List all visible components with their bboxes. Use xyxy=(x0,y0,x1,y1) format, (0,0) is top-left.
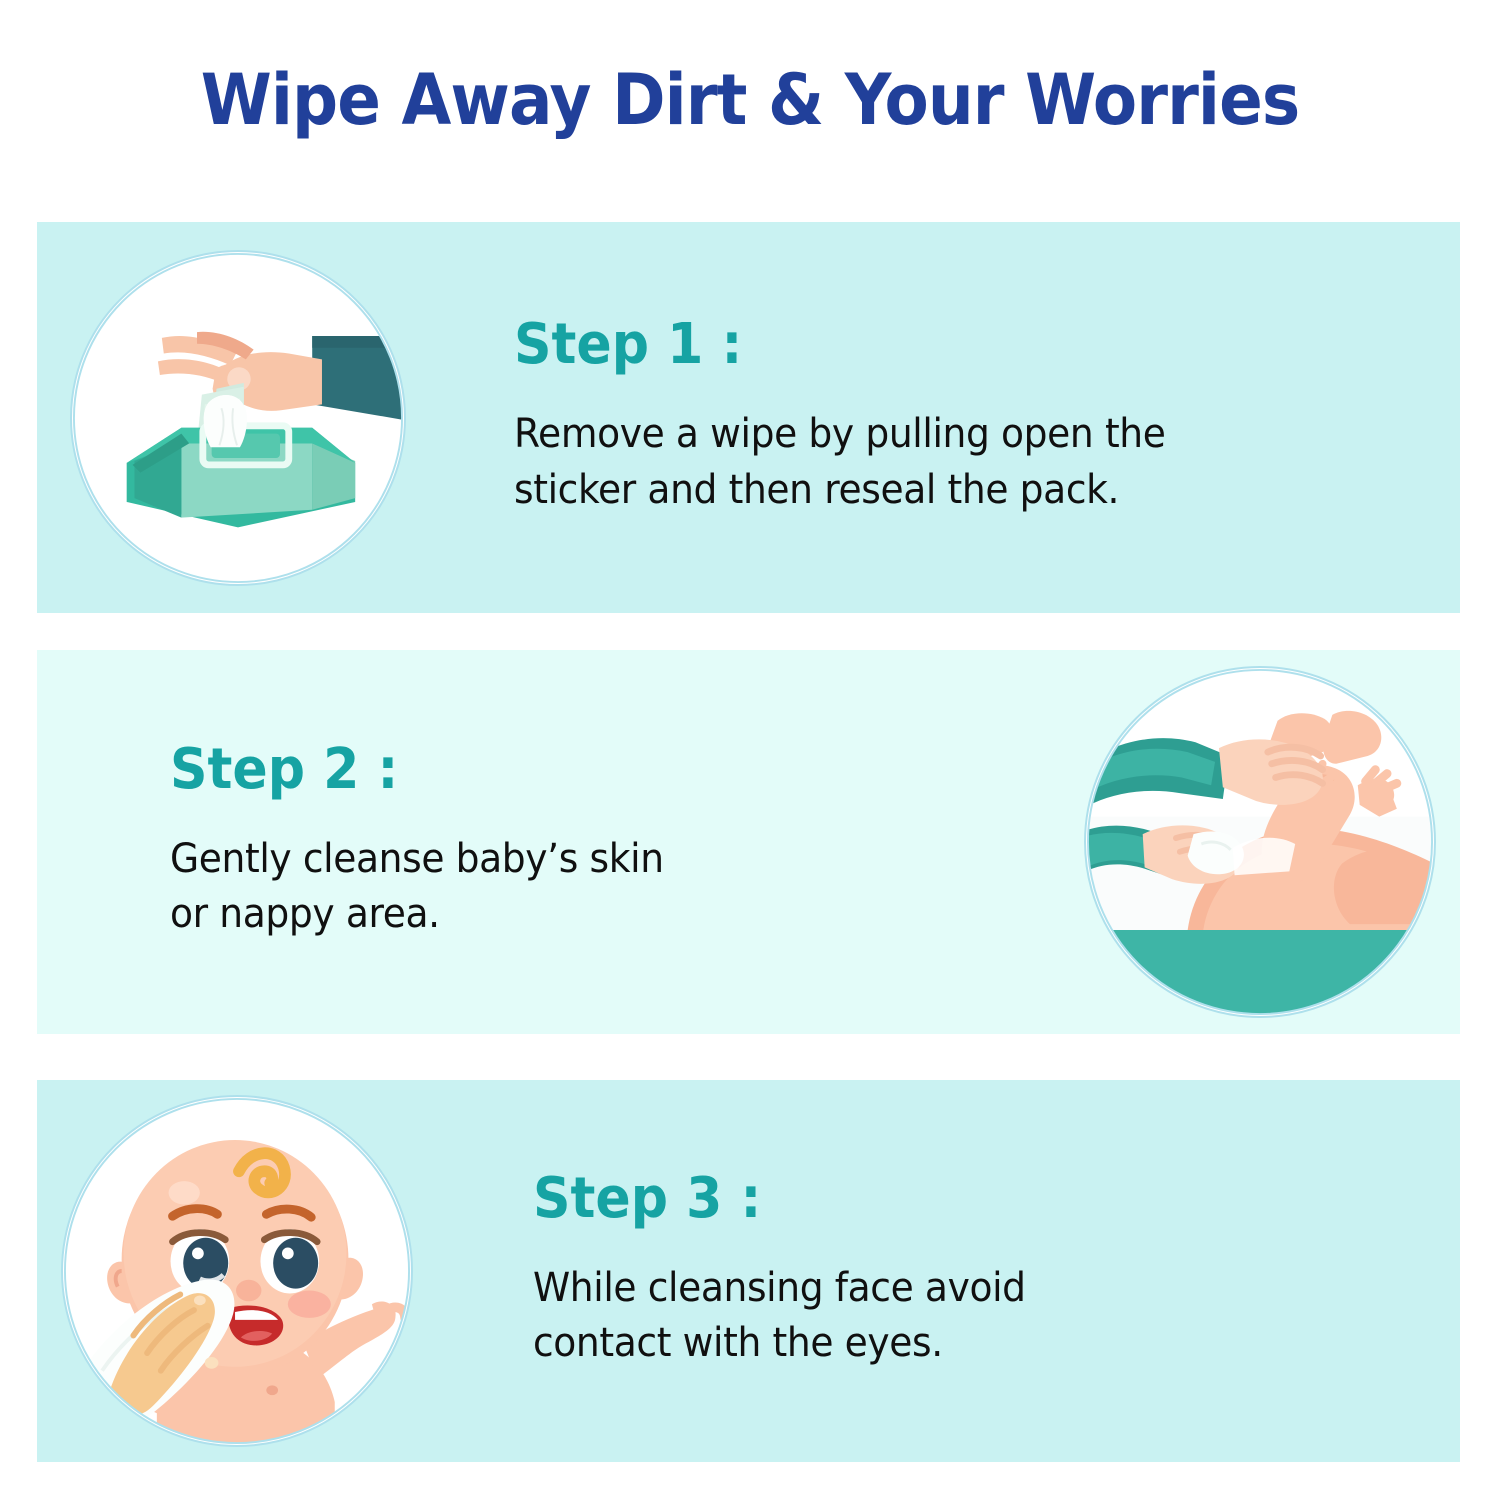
step-band-2: Step 2 : Gently cleanse baby’s skin or n… xyxy=(37,650,1460,1034)
step-3-heading: Step 3 : xyxy=(533,1171,1339,1227)
step-1-illustration-hand-pulling-wipe-from-pack xyxy=(70,250,406,586)
step-2-heading: Step 2 : xyxy=(170,742,983,798)
step-band-1: Step 1 : Remove a wipe by pulling open t… xyxy=(37,222,1460,613)
step-3-body-line-1: While cleansing face avoid xyxy=(533,1261,1348,1316)
step-3-body-line-2: contact with the eyes. xyxy=(533,1316,1348,1371)
step-2-body-line-1: Gently cleanse baby’s skin xyxy=(170,832,992,887)
infographic-page: Wipe Away Dirt & Your Worries xyxy=(0,0,1500,1500)
step-2-illustration-hands-cleaning-baby-nappy-area xyxy=(1084,666,1436,1018)
step-2-body: Gently cleanse baby’s skin or nappy area… xyxy=(170,832,992,942)
step-1-body-line-1: Remove a wipe by pulling open the xyxy=(514,407,1347,462)
step-3-body: While cleansing face avoid contact with … xyxy=(533,1261,1348,1371)
step-2-copy: Step 2 : Gently cleanse baby’s skin or n… xyxy=(37,742,1084,942)
page-title: Wipe Away Dirt & Your Worries xyxy=(60,62,1440,139)
step-3-illustration-baby-face-wiped-with-wipe xyxy=(61,1095,413,1447)
step-2-body-line-2: or nappy area. xyxy=(170,887,992,942)
step-1-body-line-2: sticker and then reseal the pack. xyxy=(514,463,1347,518)
step-1-body: Remove a wipe by pulling open the sticke… xyxy=(514,407,1347,517)
step-band-3: Step 3 : While cleansing face avoid cont… xyxy=(37,1080,1460,1462)
step-3-copy: Step 3 : While cleansing face avoid cont… xyxy=(413,1171,1460,1371)
step-1-heading: Step 1 : xyxy=(514,317,1338,373)
step-1-copy: Step 1 : Remove a wipe by pulling open t… xyxy=(406,317,1460,517)
